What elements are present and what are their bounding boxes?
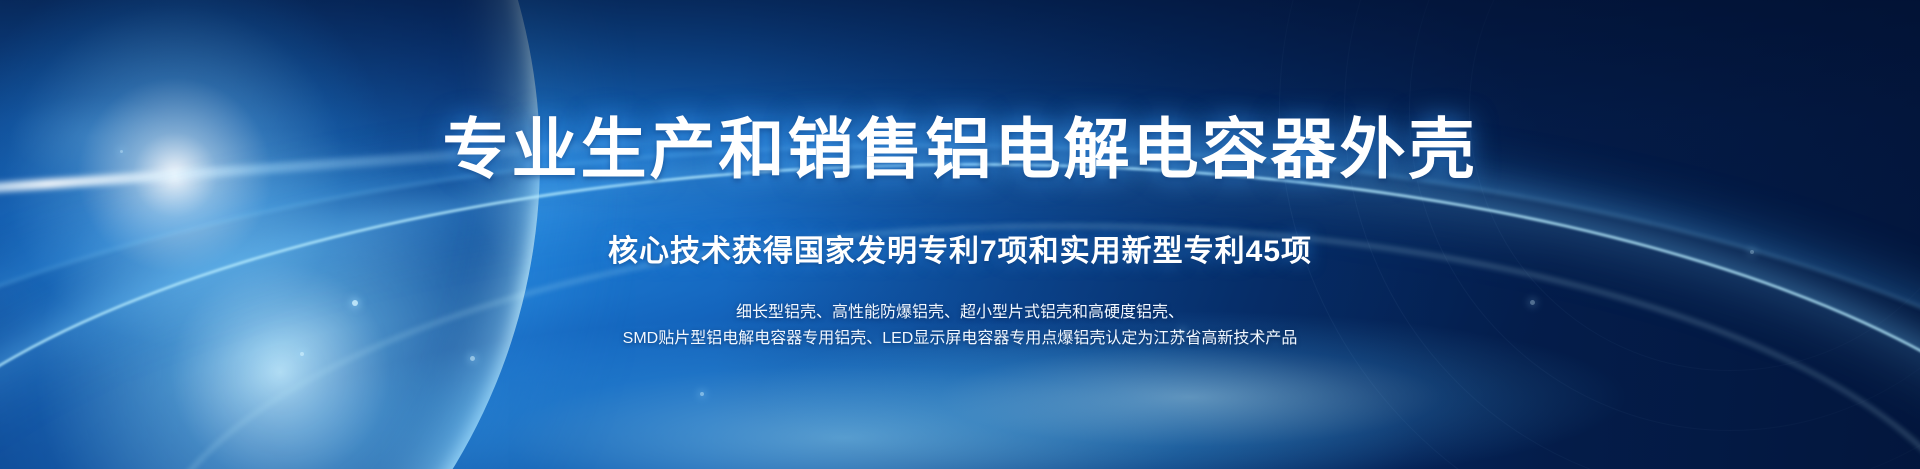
page-title: 专业生产和销售铝电解电容器外壳: [443, 96, 1478, 192]
banner-content: 专业生产和销售铝电解电容器外壳 核心技术获得国家发明专利7项和实用新型专利45项…: [0, 0, 1920, 469]
hero-banner: 专业生产和销售铝电解电容器外壳 核心技术获得国家发明专利7项和实用新型专利45项…: [0, 0, 1920, 469]
description-line-2: SMD贴片型铝电解电容器专用铝壳、LED显示屏电容器专用点爆铝壳认定为江苏省高新…: [623, 326, 1298, 352]
page-subtitle: 核心技术获得国家发明专利7项和实用新型专利45项: [608, 226, 1312, 270]
description-line-1: 细长型铝壳、高性能防爆铝壳、超小型片式铝壳和高硬度铝壳、: [623, 300, 1298, 326]
